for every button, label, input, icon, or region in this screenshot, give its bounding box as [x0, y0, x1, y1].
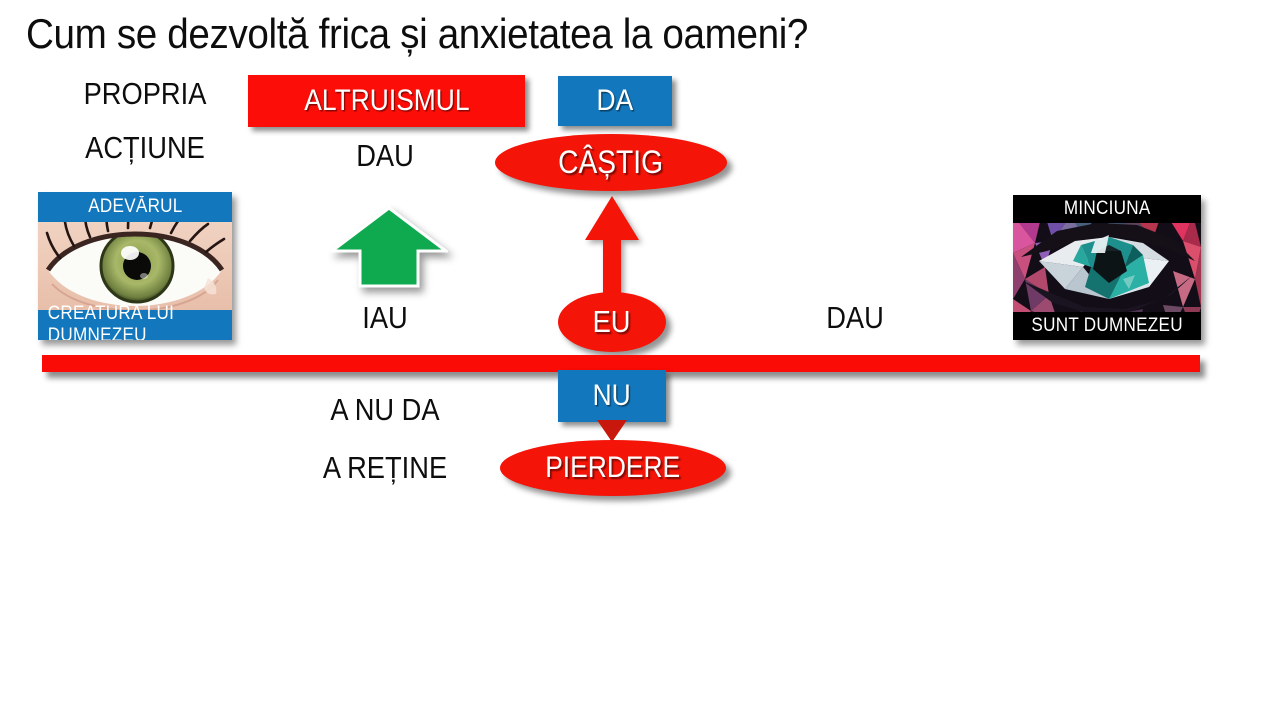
- eu-label: EU: [593, 304, 631, 340]
- label-actiune: ACȚIUNE: [70, 130, 220, 166]
- pierdere-ellipse[interactable]: PIERDERE: [500, 440, 726, 496]
- label-dau-right: DAU: [780, 300, 930, 336]
- label-a-retine: A REȚINE: [310, 450, 460, 486]
- nu-box[interactable]: NU: [558, 370, 666, 422]
- right-eye-caption-top: MINCIUNA: [1013, 195, 1201, 223]
- right-eye-caption-bottom: SUNT DUMNEZEU: [1013, 312, 1201, 340]
- label-propria: PROPRIA: [70, 76, 220, 112]
- altruismul-label: ALTRUISMUL: [304, 84, 469, 118]
- eu-ellipse[interactable]: EU: [558, 292, 666, 352]
- pierdere-label: PIERDERE: [546, 451, 681, 485]
- castig-label: CÂȘTIG: [559, 144, 664, 181]
- page-title: Cum se dezvoltă frica și anxietatea la o…: [26, 10, 1084, 58]
- da-box[interactable]: DA: [558, 76, 672, 126]
- right-eye-image-card: MINCIUNA SUNT DUMNEZEU: [1013, 195, 1201, 340]
- da-label: DA: [597, 84, 634, 118]
- label-dau-top: DAU: [310, 138, 460, 174]
- red-down-triangle-icon: [597, 420, 627, 442]
- label-iau: IAU: [310, 300, 460, 336]
- castig-ellipse[interactable]: CÂȘTIG: [495, 134, 727, 191]
- green-up-arrow-icon: [330, 206, 448, 288]
- label-a-nu-da: A NU DA: [310, 392, 460, 428]
- left-eye-caption-top: ADEVĂRUL: [38, 192, 232, 222]
- left-eye-caption-bottom: CREATURA LUI DUMNEZEU: [38, 310, 232, 340]
- left-eye-image-card: ADEVĂRUL CREATURA LUI DUMNEZEU: [38, 192, 232, 340]
- slide-canvas: Cum se dezvoltă frica și anxietatea la o…: [0, 0, 1280, 720]
- altruismul-box[interactable]: ALTRUISMUL: [248, 75, 525, 127]
- nu-label: NU: [593, 379, 631, 413]
